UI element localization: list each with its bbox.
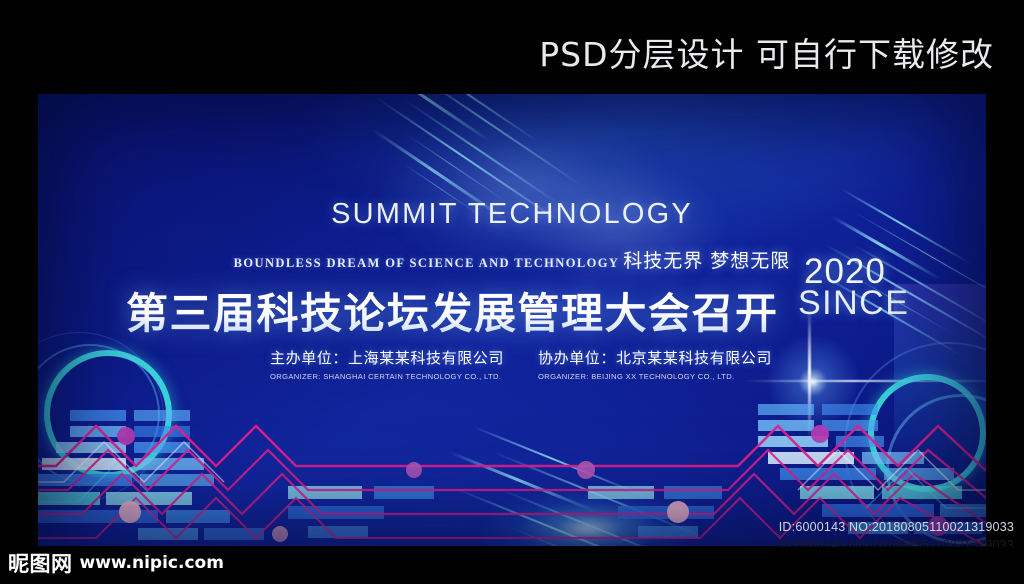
circuit-node <box>577 461 595 479</box>
organizer-cohost-en: ORGANIZER: BEIJING XX TECHNOLOGY CO., LT… <box>538 372 772 381</box>
circuit-node <box>406 462 422 478</box>
circuit-node <box>811 425 829 443</box>
main-title: 第三届科技论坛发展管理大会召开 <box>126 280 826 341</box>
image-id-text: ID:6000143 NO:20180805110021319033 <box>779 520 1014 534</box>
image-id-text-clipped: ID:6000143 NO:20180805110021319033 <box>779 538 1014 547</box>
organizer-cohost: 协办单位：北京某某科技有限公司 ORGANIZER: BEIJING XX TE… <box>538 347 772 381</box>
circuit-node <box>272 526 288 542</box>
watermark-logo-text: 昵图网 <box>8 548 73 578</box>
screenshot-root: PSD分层设计 可自行下载修改 <box>0 0 1024 584</box>
tagline-english: BOUNDLESS DREAM OF SCIENCE AND TECHNOLOG… <box>234 256 620 270</box>
organizer-cohost-cn: 协办单位：北京某某科技有限公司 <box>538 347 772 368</box>
site-watermark: 昵图网 www.nipic.com <box>8 548 224 578</box>
summit-english-title: SUMMIT TECHNOLOGY <box>38 198 986 231</box>
since-label: SINCE <box>798 284 909 323</box>
circuit-node <box>667 501 689 523</box>
top-banner: PSD分层设计 可自行下载修改 <box>0 0 1024 94</box>
watermark-url: www.nipic.com <box>80 553 224 573</box>
circuit-node <box>119 501 141 523</box>
top-banner-headline: PSD分层设计 可自行下载修改 <box>539 28 994 76</box>
organizer-host-en: ORGANIZER: SHANGHAI CERTAIN TECHNOLOGY C… <box>270 372 504 381</box>
organizer-host-cn: 主办单位：上海某某科技有限公司 <box>270 347 504 368</box>
organizer-host: 主办单位：上海某某科技有限公司 ORGANIZER: SHANGHAI CERT… <box>270 347 504 381</box>
poster-artwork: SUMMIT TECHNOLOGY BOUNDLESS DREAM OF SCI… <box>38 94 986 546</box>
tagline-chinese: 科技无界 梦想无限 <box>623 250 790 272</box>
circuit-node <box>117 427 135 445</box>
footer-bar: ID:6000143 NO:20180805110021319033 ID:60… <box>0 546 1024 584</box>
